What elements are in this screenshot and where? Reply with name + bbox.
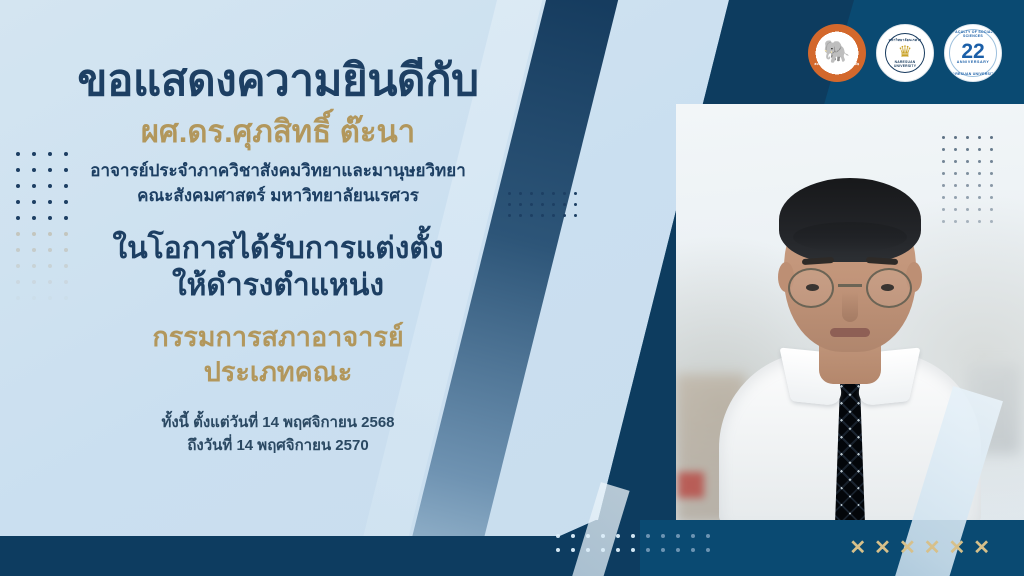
- decorative-dot: [990, 208, 993, 211]
- decorative-dot: [519, 192, 522, 195]
- decorative-dot: [966, 220, 969, 223]
- decorative-dot: [508, 203, 511, 206]
- term-line-2: ถึงวันที่ 14 พฤศจิกายน 2570: [187, 435, 368, 458]
- decorative-dot: [954, 148, 957, 151]
- badge-arc-top: FACULTY OF SOCIAL SCIENCES: [945, 30, 1001, 38]
- decorative-dot: [954, 160, 957, 163]
- decorative-dot: [508, 214, 511, 217]
- decorative-dot: [574, 214, 577, 217]
- x-mark-icon: ✕: [874, 538, 891, 558]
- decorative-dot: [601, 548, 605, 552]
- decorative-dot: [966, 136, 969, 139]
- decorative-dot: [552, 192, 555, 195]
- decorative-dot: [661, 548, 665, 552]
- decorative-dot: [966, 172, 969, 175]
- x-mark-icon: ✕: [973, 538, 990, 558]
- lens-left: [788, 268, 834, 308]
- decorative-dot: [954, 220, 957, 223]
- badge-arc-bottom: NARESUAN UNIVERSITY: [945, 72, 1001, 76]
- decorative-dot: [942, 136, 945, 139]
- decorative-dot: [552, 203, 555, 206]
- decorative-dot: [990, 220, 993, 223]
- decorative-dot: [942, 148, 945, 151]
- badge-anniversary-label: ANNIVERSARY: [945, 60, 1001, 64]
- decorative-dot: [954, 184, 957, 187]
- x-mark-icon: ✕: [849, 538, 866, 558]
- decorative-dot: [966, 160, 969, 163]
- decorative-dot: [978, 196, 981, 199]
- honoree-name: ผศ.ดร.ศุภสิทธิ์ ต๊ะนา: [141, 113, 415, 150]
- decorative-dot: [966, 208, 969, 211]
- decorative-dot: [541, 192, 544, 195]
- decorative-dot: [571, 548, 575, 552]
- decorative-dot: [990, 184, 993, 187]
- congratulation-banner: 🐘 สภาอาจารย์ มหาวิทยาลัยนเรศวร มหาวิทยาล…: [0, 0, 1024, 576]
- decorative-dot: [519, 214, 522, 217]
- text-column: ขอแสดงความยินดีกับ ผศ.ดร.ศุภสิทธิ์ ต๊ะนา…: [0, 0, 556, 576]
- decorative-dot: [556, 534, 560, 538]
- decorative-dot: [586, 548, 590, 552]
- decorative-dot: [978, 208, 981, 211]
- elephant-icon: 🐘: [823, 41, 850, 63]
- decorative-dot: [990, 160, 993, 163]
- decorative-dot: [646, 534, 650, 538]
- decorative-dot: [990, 136, 993, 139]
- decorative-dot: [942, 220, 945, 223]
- dot-grid-photo: [942, 136, 1002, 232]
- decorative-dot: [552, 214, 555, 217]
- term-line-1: ทั้งนี้ ตั้งแต่วันที่ 14 พฤศจิกายน 2568: [161, 412, 394, 435]
- decorative-dot: [571, 534, 575, 538]
- faculty-anniversary-badge: FACULTY OF SOCIAL SCIENCES 22 ANNIVERSAR…: [944, 24, 1002, 82]
- hair: [779, 178, 921, 262]
- decorative-dot: [646, 548, 650, 552]
- decorative-dot: [519, 203, 522, 206]
- decorative-dot: [661, 534, 665, 538]
- decorative-dot: [978, 160, 981, 163]
- decorative-dot: [966, 148, 969, 151]
- decorative-dot: [978, 172, 981, 175]
- eyebrow-right: [866, 257, 898, 265]
- elephant-crest-logo: 🐘 สภาอาจารย์ มหาวิทยาลัยนเรศวร: [808, 24, 866, 82]
- decorative-dot: [556, 548, 560, 552]
- decorative-dot: [942, 160, 945, 163]
- decorative-dot: [530, 214, 533, 217]
- x-mark-icon: ✕: [948, 538, 965, 558]
- decorative-dot: [691, 534, 695, 538]
- x-mark-icon: ✕: [924, 538, 941, 558]
- decorative-dot: [691, 548, 695, 552]
- decorative-dot: [616, 548, 620, 552]
- headline: ขอแสดงความยินดีกับ: [77, 56, 478, 105]
- nose: [842, 292, 858, 322]
- decorative-dot: [954, 136, 957, 139]
- decorative-dot: [563, 192, 566, 195]
- decorative-dot: [706, 534, 710, 538]
- decorative-dot: [954, 208, 957, 211]
- head: [784, 184, 916, 352]
- affiliation-line-2: คณะสังคมศาสตร์ มหาวิทยาลัยนเรศวร: [137, 184, 419, 208]
- elephant-crest-caption: สภาอาจารย์ มหาวิทยาลัยนเรศวร: [808, 61, 866, 73]
- decorative-dot: [990, 172, 993, 175]
- decorative-dot: [631, 534, 635, 538]
- decorative-dot: [530, 203, 533, 206]
- decorative-dot: [706, 548, 710, 552]
- decorative-dot: [616, 534, 620, 538]
- crown-icon: ♛: [898, 45, 912, 61]
- seal-inner-ring: มหาวิทยาลัยนเรศวร ♛ NARESUAN UNIVERSITY: [885, 33, 925, 73]
- lens-right: [866, 268, 912, 308]
- decorative-dot: [942, 172, 945, 175]
- decorative-dot: [966, 196, 969, 199]
- decorative-dot: [508, 192, 511, 195]
- decorative-dot: [978, 220, 981, 223]
- decorative-dot: [978, 184, 981, 187]
- affiliation-line-1: อาจารย์ประจำภาควิชาสังคมวิทยาและมานุษยวิ…: [90, 159, 466, 183]
- x-marks-decoration: ✕✕✕✕✕✕: [849, 538, 990, 558]
- occasion-line-2: ให้ดำรงตำแหน่ง: [172, 267, 384, 304]
- decorative-dot: [574, 203, 577, 206]
- eyebrow-left: [802, 257, 834, 265]
- logo-row: 🐘 สภาอาจารย์ มหาวิทยาลัยนเรศวร มหาวิทยาล…: [808, 24, 1002, 82]
- occasion-line-1: ในโอกาสได้รับการแต่งตั้ง: [112, 230, 443, 267]
- mouth: [830, 328, 870, 337]
- decorative-dot: [978, 136, 981, 139]
- seal-top-text: มหาวิทยาลัยนเรศวร: [886, 38, 924, 43]
- naresuan-university-seal: มหาวิทยาลัยนเรศวร ♛ NARESUAN UNIVERSITY: [876, 24, 934, 82]
- decorative-dot: [990, 196, 993, 199]
- decorative-dot: [954, 172, 957, 175]
- decorative-dot: [942, 208, 945, 211]
- x-mark-icon: ✕: [899, 538, 916, 558]
- decorative-dot: [676, 534, 680, 538]
- decorative-dot: [541, 203, 544, 206]
- decorative-dot: [601, 534, 605, 538]
- decorative-dot: [631, 548, 635, 552]
- decorative-dot: [978, 148, 981, 151]
- decorative-dot: [541, 214, 544, 217]
- seal-bottom-text: NARESUAN UNIVERSITY: [886, 60, 924, 68]
- decorative-dot: [966, 184, 969, 187]
- decorative-dot: [942, 196, 945, 199]
- decorative-dot: [563, 214, 566, 217]
- dot-grid-bottom: [556, 534, 721, 562]
- decorative-dot: [563, 203, 566, 206]
- position-line-1: กรรมการสภาอาจารย์: [152, 320, 403, 355]
- dot-grid-middle: [508, 192, 585, 225]
- decorative-dot: [954, 196, 957, 199]
- decorative-dot: [574, 192, 577, 195]
- decorative-dot: [586, 534, 590, 538]
- decorative-dot: [942, 184, 945, 187]
- decorative-dot: [990, 148, 993, 151]
- glasses-bridge: [838, 284, 862, 287]
- decorative-dot: [530, 192, 533, 195]
- position-line-2: ประเภทคณะ: [204, 355, 353, 390]
- decorative-dot: [676, 548, 680, 552]
